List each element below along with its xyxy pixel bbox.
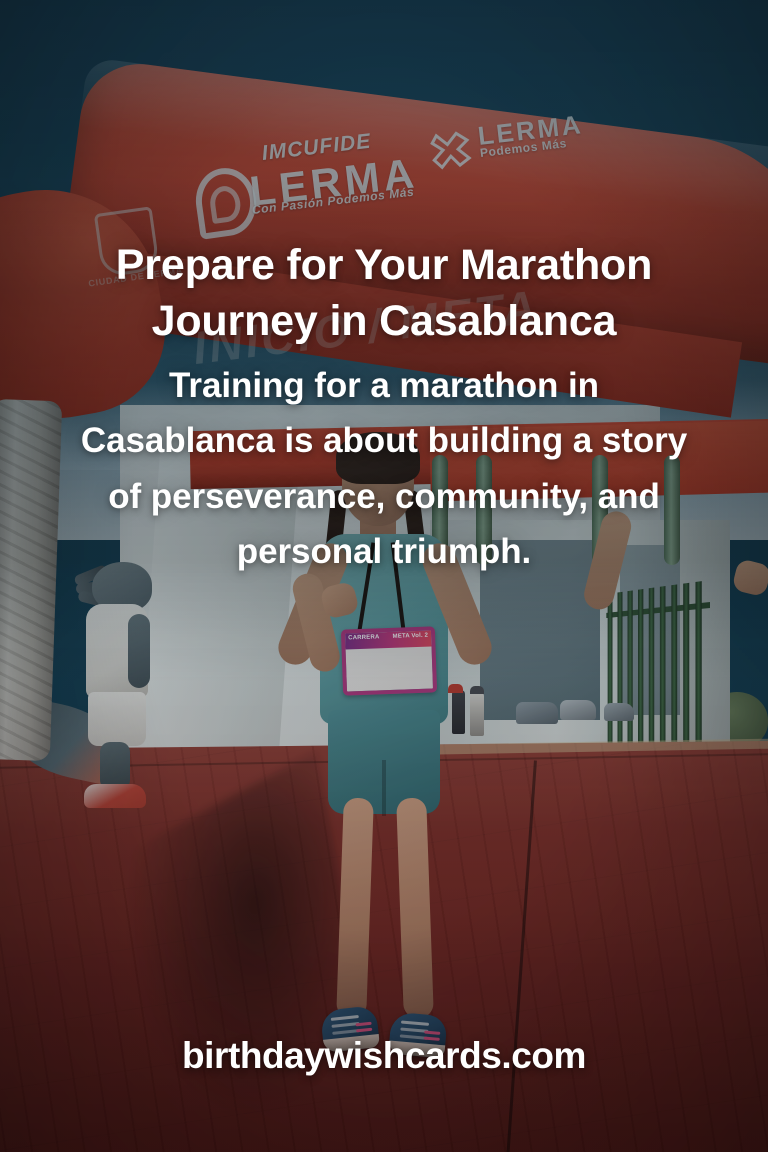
page-title: Prepare for Your Marathon Journey in Cas… <box>34 238 734 350</box>
site-watermark: birthdaywishcards.com <box>0 1035 768 1077</box>
page-subtitle: Training for a marathon in Casablanca is… <box>76 358 692 579</box>
text-overlay: Prepare for Your Marathon Journey in Cas… <box>0 0 768 1152</box>
quote-card: CARRERA META Vol. 2 CIUDAD <box>0 0 768 1152</box>
